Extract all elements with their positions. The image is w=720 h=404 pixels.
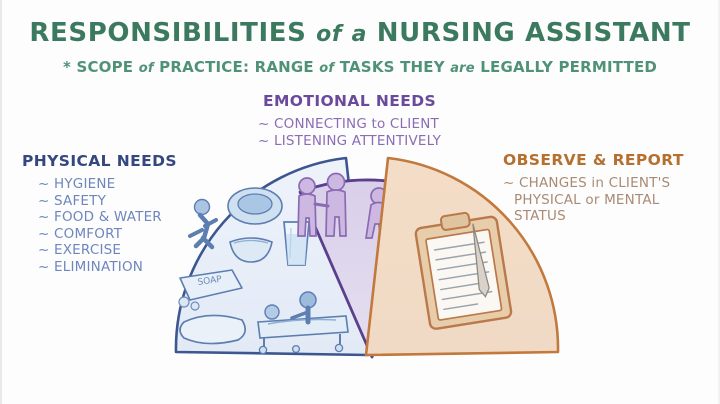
pillow-icon [180,315,245,343]
page-title: RESPONSIBILITIES of a NURSING ASSISTANT [0,18,720,48]
subtitle-tasks: TASKS THEY [340,58,445,76]
basin-icon [228,188,282,224]
emotional-needs-heading: EMOTIONAL NEEDS [258,92,441,110]
subtitle-scope: SCOPE [76,58,133,76]
subtitle-are: are [450,61,475,76]
emotional-needs-list: ~ CONNECTING to CLIENT ~ LISTENING ATTEN… [258,116,441,149]
title-part-2: NURSING ASSISTANT [377,18,691,48]
subtitle-permitted: LEGALLY PERMITTED [480,58,657,76]
page-subtitle: * SCOPE of PRACTICE: RANGE of TASKS THEY… [0,58,720,76]
title-of: of [316,22,342,47]
three-segment-fan-diagram: SOAP [150,150,580,365]
subtitle-practice: PRACTICE: RANGE [159,58,314,76]
list-item: ~ CONNECTING to CLIENT [258,116,441,133]
section-emotional-needs: EMOTIONAL NEEDS ~ CONNECTING to CLIENT ~… [258,92,441,149]
title-a: a [352,22,367,47]
subtitle-of-2: of [319,61,334,76]
list-item: ~ LISTENING ATTENTIVELY [258,133,441,150]
subtitle-asterisk: * [63,58,71,76]
diagram-canvas: RESPONSIBILITIES of a NURSING ASSISTANT … [0,0,720,404]
segment-observe-report[interactable] [366,158,558,355]
clipboard-icon [414,208,512,329]
subtitle-of-1: of [139,61,154,76]
title-part-1: RESPONSIBILITIES [29,18,306,48]
